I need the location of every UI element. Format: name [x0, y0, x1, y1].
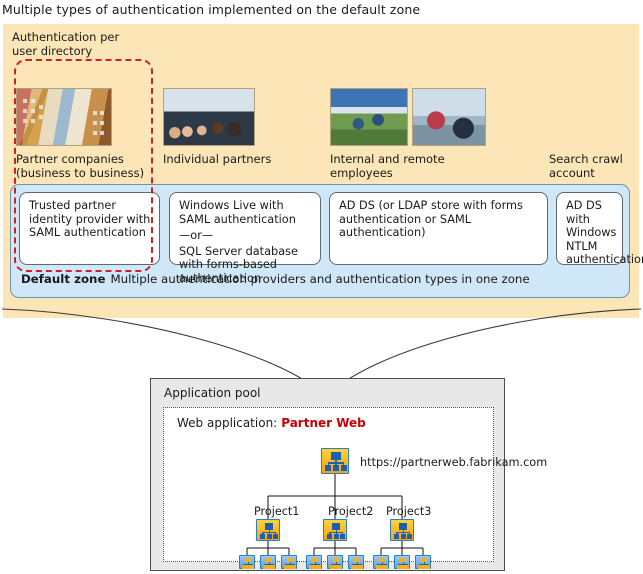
business-people-photo	[163, 88, 255, 146]
subsite-icon-project1-3[interactable]	[281, 555, 297, 569]
subsite-icon-project2-2[interactable]	[327, 555, 343, 569]
subsite-icon-project3-1[interactable]	[373, 555, 389, 569]
subsite-icon-project3-2[interactable]	[394, 555, 410, 569]
application-pool-label: Application pool	[164, 386, 261, 400]
auth-heading-line-2: user directory	[12, 44, 119, 58]
web-application-prefix: Web application:	[177, 416, 277, 430]
default-zone-label: Default zone	[21, 272, 105, 286]
default-zone-container: Trusted partner identity provider with S…	[10, 184, 630, 298]
subsite-icon-project3-3[interactable]	[415, 555, 431, 569]
auth-partner-line-2: identity provider with	[29, 213, 151, 227]
auth-method-box-search-crawl: AD DS with Windows NTLM authentication	[556, 192, 623, 265]
auth-method-box-partner-companies: Trusted partner identity provider with S…	[19, 192, 160, 265]
auth-partner-line-3: SAML authentication	[29, 226, 151, 240]
default-zone-description: Multiple authentication providers and au…	[110, 272, 529, 286]
site-tree-icon-project3[interactable]	[390, 519, 414, 541]
authentication-panel-heading: Authentication per user directory	[12, 30, 119, 58]
auth-method-box-internal-employees: AD DS (or LDAP store with forms authenti…	[329, 192, 548, 265]
site-tree-icon-project1[interactable]	[256, 519, 280, 541]
site-tree-icon-project2[interactable]	[323, 519, 347, 541]
web-application-url: https://partnerweb.fabrikam.com	[360, 456, 547, 469]
auth-internal-primary: AD DS (or LDAP store with forms authenti…	[339, 199, 539, 240]
auth-method-box-individual-partners: Windows Live with SAML authentication —o…	[169, 192, 321, 265]
project-label-3: Project3	[386, 505, 431, 518]
caption-individual-partners-line-1: Individual partners	[163, 152, 313, 166]
project-label-1: Project1	[254, 505, 299, 518]
web-application-container: Web application:Partner Web	[163, 407, 494, 562]
auth-heading-line-1: Authentication per	[12, 30, 119, 44]
caption-partner-companies-line-1: Partner companies	[16, 152, 156, 166]
auth-individual-primary: Windows Live with SAML authentication	[179, 199, 312, 226]
office-workers-photo	[412, 88, 486, 146]
office-buildings-photo	[16, 88, 112, 146]
auth-partner-line-1: Trusted partner	[29, 199, 151, 213]
caption-partner-companies-line-2: (business to business)	[16, 166, 156, 180]
caption-internal-employees-line-2: employees	[330, 166, 490, 180]
auth-crawl-primary: AD DS with Windows NTLM authentication	[566, 199, 614, 267]
caption-search-crawl-line-1: Search crawl	[549, 152, 639, 166]
site-tree-icon-web-application[interactable]	[321, 448, 349, 474]
field-workers-photo	[330, 88, 408, 146]
web-application-name: Partner Web	[281, 416, 366, 430]
subsite-icon-project1-2[interactable]	[260, 555, 276, 569]
subsite-icon-project2-3[interactable]	[348, 555, 364, 569]
auth-individual-separator: —or—	[179, 229, 312, 243]
subsite-icon-project2-1[interactable]	[306, 555, 322, 569]
default-zone-footer: Default zoneMultiple authentication prov…	[21, 272, 530, 286]
caption-search-crawl-line-2: account	[549, 166, 639, 180]
caption-internal-employees-line-1: Internal and remote	[330, 152, 490, 166]
subsite-icon-project1-1[interactable]	[239, 555, 255, 569]
page-title: Multiple types of authentication impleme…	[2, 2, 420, 17]
application-pool-container: Application pool Web application:Partner…	[150, 378, 505, 571]
caption-individual-partners: Individual partners	[163, 152, 313, 166]
web-application-label: Web application:Partner Web	[177, 416, 366, 430]
caption-partner-companies: Partner companies (business to business)	[16, 152, 156, 180]
caption-search-crawl-account: Search crawl account	[549, 152, 639, 180]
caption-internal-remote-employees: Internal and remote employees	[330, 152, 490, 180]
project-label-2: Project2	[328, 505, 373, 518]
